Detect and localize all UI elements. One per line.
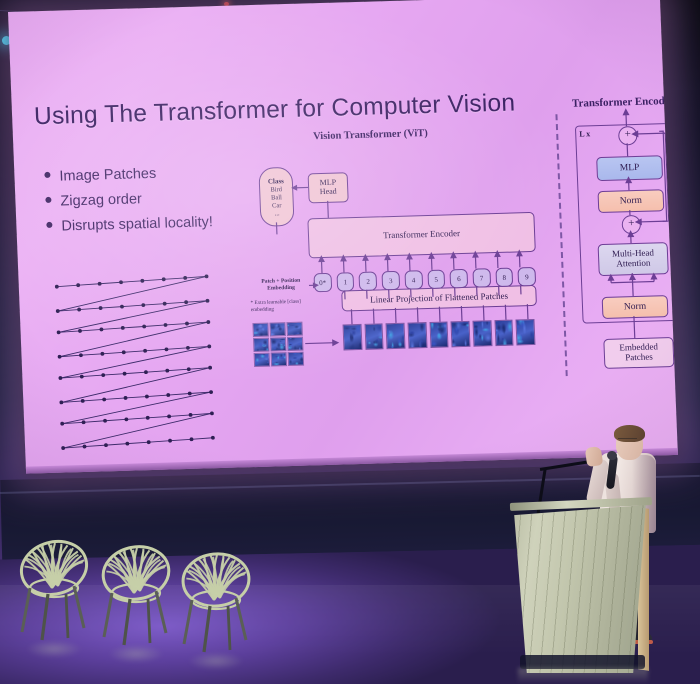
podium-slats [510, 505, 650, 673]
presentation-photo: Using The Transformer for Computer Visio… [0, 0, 700, 684]
speaker-raised-hand [585, 446, 603, 467]
chair-svg [170, 540, 266, 660]
chair-3 [170, 540, 266, 660]
encoder-connectors [568, 109, 678, 374]
podium-base-shadow [520, 655, 645, 669]
podium [510, 505, 650, 673]
podium-reflection [518, 668, 648, 684]
slide-surface: Using The Transformer for Computer Visio… [8, 0, 678, 474]
speaker-glasses [618, 438, 637, 444]
encoder-column: L x + MLP Norm + Multi-Head Attention No… [568, 109, 678, 374]
projection-screen: Using The Transformer for Computer Visio… [8, 0, 687, 490]
